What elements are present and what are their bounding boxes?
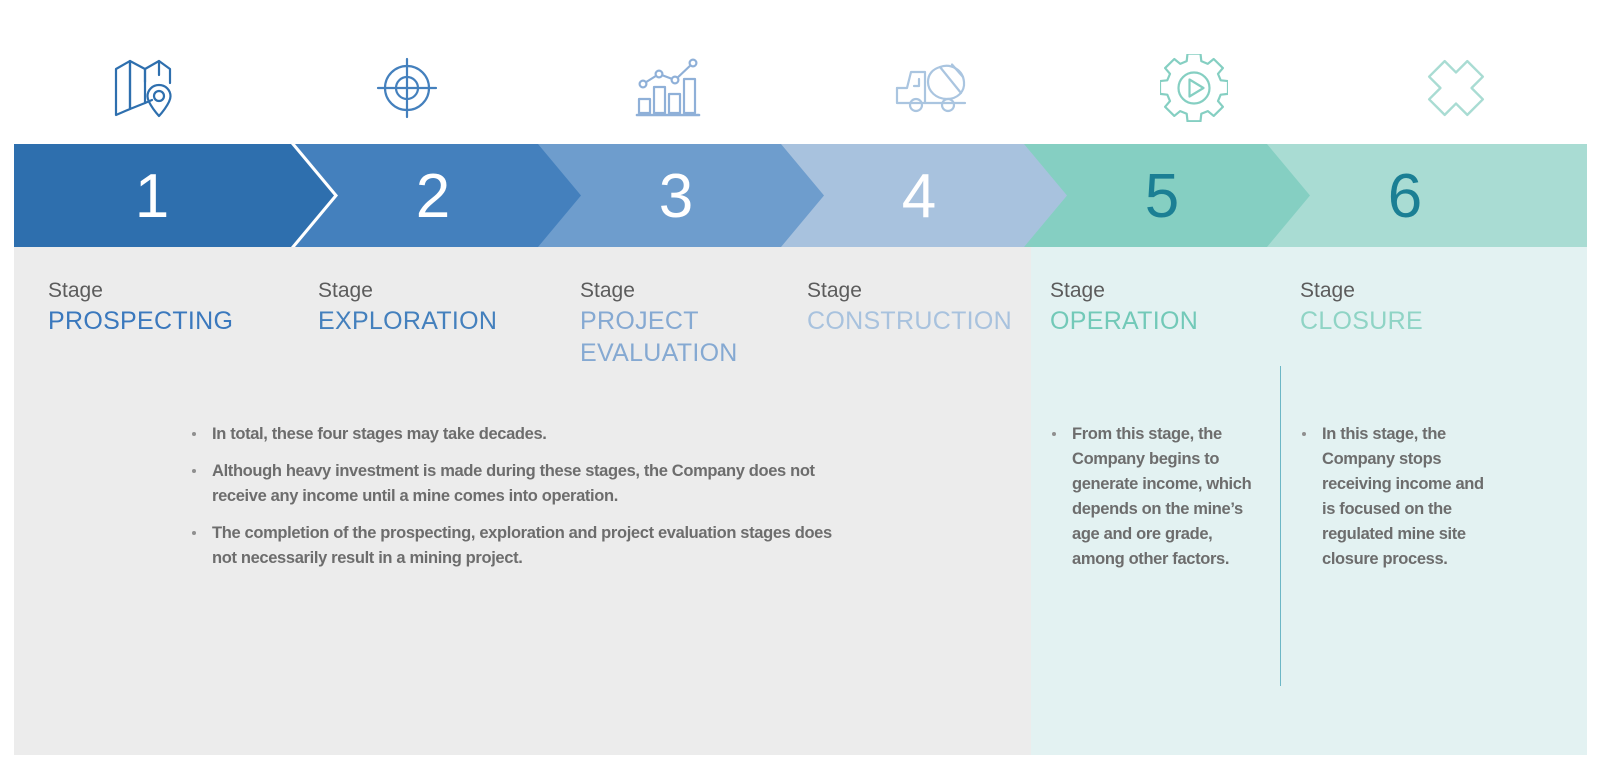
icon-cell-stage-6 [1325, 38, 1587, 138]
stage-label-3: Stage PROJECT EVALUATION [580, 277, 738, 369]
stage-name-6: CLOSURE [1300, 305, 1423, 337]
operation-notes-list: From this stage, the Company begins to g… [1050, 422, 1265, 572]
stage-label-2: Stage EXPLORATION [318, 277, 497, 337]
list-item: From this stage, the Company begins to g… [1050, 422, 1265, 572]
stage-name-4: CONSTRUCTION [807, 305, 1012, 337]
stage-name-2: EXPLORATION [318, 305, 497, 337]
cross-x-icon [1427, 59, 1485, 117]
panel-divider [1280, 366, 1281, 686]
icon-cell-stage-4 [801, 38, 1063, 138]
stage-name-5: OPERATION [1050, 305, 1198, 337]
list-item: In total, these four stages may take dec… [190, 422, 850, 447]
stage-word-5: Stage [1050, 277, 1198, 305]
stage-word-6: Stage [1300, 277, 1423, 305]
stage-name-3: PROJECT EVALUATION [580, 305, 738, 369]
icon-cell-stage-1 [14, 38, 276, 138]
stage-word-1: Stage [48, 277, 233, 305]
mining-stages-infographic: 1 2 3 4 5 6 Stage PROSPECTING Stage EXPL… [0, 0, 1601, 771]
closure-notes-list: In this stage, the Company stops receivi… [1300, 422, 1500, 572]
gear-play-icon [1160, 54, 1228, 122]
map-pin-icon [112, 57, 178, 119]
stage-label-4: Stage CONSTRUCTION [807, 277, 1012, 337]
main-notes-list: In total, these four stages may take dec… [190, 422, 850, 583]
stage-name-1: PROSPECTING [48, 305, 233, 337]
list-item: The completion of the prospecting, explo… [190, 521, 850, 571]
icon-cell-stage-5 [1063, 38, 1325, 138]
icon-cell-stage-2 [276, 38, 538, 138]
chevron-number-3: 3 [659, 166, 693, 228]
icon-cell-stage-3 [538, 38, 800, 138]
chevron-stage-1[interactable]: 1 [14, 144, 334, 247]
chevron-number-2: 2 [416, 166, 450, 228]
list-item: In this stage, the Company stops receivi… [1300, 422, 1500, 572]
list-item: Although heavy investment is made during… [190, 459, 850, 509]
stage-word-3: Stage [580, 277, 738, 305]
stage-word-2: Stage [318, 277, 497, 305]
chevron-band: 1 2 3 4 5 6 [14, 144, 1587, 247]
chevron-number-6: 6 [1388, 166, 1422, 228]
stage-label-5: Stage OPERATION [1050, 277, 1198, 337]
chevron-number-5: 5 [1145, 166, 1179, 228]
stage-label-6: Stage CLOSURE [1300, 277, 1423, 337]
chevron-number-4: 4 [902, 166, 936, 228]
crosshair-target-icon [375, 56, 439, 120]
stage-label-1: Stage PROSPECTING [48, 277, 233, 337]
stage-word-4: Stage [807, 277, 1012, 305]
cement-mixer-truck-icon [895, 60, 969, 116]
chevron-stage-6[interactable]: 6 [1267, 144, 1587, 247]
chevron-number-1: 1 [135, 166, 169, 228]
icon-row [14, 38, 1587, 138]
bar-chart-trend-icon [635, 57, 703, 119]
